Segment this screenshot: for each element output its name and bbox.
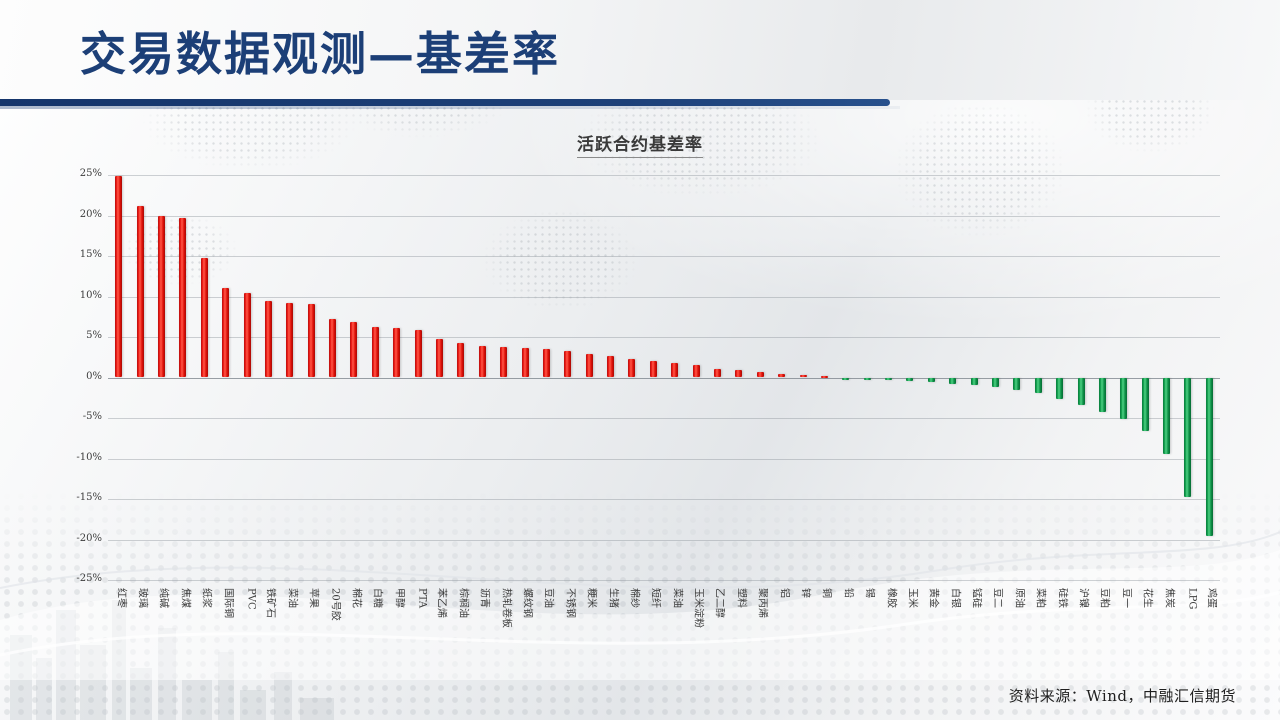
chart-bar	[586, 354, 593, 377]
chart-bar	[329, 319, 336, 377]
x-axis-tick-label: 锰硅	[971, 588, 986, 608]
chart-bar	[885, 378, 892, 381]
x-axis-tick-label: 豆油	[543, 588, 558, 608]
chart-bar	[693, 365, 700, 377]
y-axis-tick-label: -10%	[42, 452, 102, 463]
header-accent-rule	[0, 99, 890, 106]
x-axis-tick-label: 沪镍	[1078, 588, 1093, 608]
x-axis-tick-label: 玉米	[906, 588, 921, 608]
chart-bar	[543, 349, 550, 377]
chart-bar	[1163, 378, 1170, 454]
x-axis-tick-label: 短纤	[650, 588, 665, 608]
x-axis-tick-label: 硅铁	[1056, 588, 1071, 608]
chart-bar	[1013, 378, 1020, 390]
x-axis-tick-label: 豆二	[992, 588, 1007, 608]
x-axis-tick-label: 豆粕	[1099, 588, 1114, 608]
x-axis-tick-label: 黄金	[928, 588, 943, 608]
x-axis-tick-label: 锌	[800, 588, 815, 598]
x-axis-tick-label: 焦炭	[1163, 588, 1178, 608]
chart-bar	[1120, 378, 1127, 419]
chart-bar	[308, 304, 315, 378]
chart-bar	[222, 288, 229, 378]
chart-bar	[137, 206, 144, 378]
chart-bar	[1056, 378, 1063, 399]
source-note: 资料来源：Wind，中融汇信期货	[1009, 685, 1236, 706]
chart-bar	[864, 378, 871, 380]
x-axis-tick-label: 花生	[1142, 588, 1157, 608]
x-axis-tick-label: 菜粕	[1035, 588, 1050, 608]
gridline	[108, 580, 1220, 581]
x-axis-tick-label: 玉米淀粉	[693, 588, 708, 628]
x-axis-tick-label: 白糖	[372, 588, 387, 608]
x-axis-tick-label: 橡胶	[885, 588, 900, 608]
x-axis-tick-label: 螺纹钢	[522, 588, 537, 618]
x-axis-tick-label: 纯碱	[158, 588, 173, 608]
x-axis-tick-label: 沥青	[479, 588, 494, 608]
x-axis-tick-label: 白银	[949, 588, 964, 608]
x-axis-tick-label: 鸡蛋	[1206, 588, 1221, 608]
y-axis-tick-label: -25%	[42, 573, 102, 584]
x-axis-tick-label: PTA	[417, 588, 428, 608]
chart-bar	[842, 378, 849, 380]
y-axis-tick-label: 0%	[42, 371, 102, 382]
chart-bars	[108, 175, 1220, 580]
x-axis-tick-label: 红枣	[115, 588, 130, 608]
chart-bar	[992, 378, 999, 388]
x-axis-tick-label: 玻璃	[137, 588, 152, 608]
chart-bar	[179, 218, 186, 378]
chart-bar	[628, 359, 635, 378]
slide-header: 交易数据观测—基差率	[0, 0, 1280, 100]
y-axis-tick-label: -5%	[42, 411, 102, 422]
chart-bar	[1099, 378, 1106, 412]
chart-bar	[671, 363, 678, 378]
x-axis-tick-label: 苹果	[308, 588, 323, 608]
page-title: 交易数据观测—基差率	[80, 26, 560, 82]
chart-bar	[949, 378, 956, 384]
x-axis-tick-label: 铝	[778, 588, 793, 598]
x-axis-tick-label: 纸浆	[201, 588, 216, 608]
x-axis-tick-label: 铁矿石	[265, 588, 280, 618]
chart-container: 活跃合约基差率 25%20%15%10%5%0%-5%-10%-15%-20%-…	[0, 120, 1280, 680]
y-axis-tick-label: 10%	[42, 290, 102, 301]
y-axis-tick-label: 25%	[42, 168, 102, 179]
chart-bar	[393, 328, 400, 377]
chart-bar	[457, 343, 464, 377]
slide-canvas: 交易数据观测—基差率 活跃合约基差率 25%20%15%10%5%0%-5%-1…	[0, 0, 1280, 720]
chart-bar	[800, 375, 807, 377]
x-axis-tick-label: 粳米	[586, 588, 601, 608]
chart-title: 活跃合约基差率	[0, 130, 1280, 155]
chart-bar	[522, 348, 529, 377]
chart-bar	[714, 369, 721, 378]
chart-bar	[1206, 378, 1213, 537]
chart-bar	[1078, 378, 1085, 406]
chart-bar	[1142, 378, 1149, 431]
x-axis-tick-label: 国际铜	[222, 588, 237, 618]
chart-bar	[607, 356, 614, 377]
x-axis-tick-label: 菜油	[286, 588, 301, 608]
x-axis-tick-label: 生猪	[607, 588, 622, 608]
y-axis-tick-label: -20%	[42, 533, 102, 544]
x-axis-tick-label: LPG	[1186, 588, 1197, 609]
x-axis-tick-label: 棉纱	[628, 588, 643, 608]
x-axis-tick-label: PVC	[246, 588, 257, 610]
chart-bar	[906, 378, 913, 382]
chart-bar	[244, 293, 251, 377]
chart-title-text: 活跃合约基差率	[577, 135, 703, 158]
y-axis-tick-label: 15%	[42, 249, 102, 260]
x-axis-tick-label: 铜	[821, 588, 836, 598]
x-axis-tick-label: 豆一	[1120, 588, 1135, 608]
chart-plot-area: 25%20%15%10%5%0%-5%-10%-15%-20%-25% 红枣玻璃…	[108, 175, 1220, 580]
chart-bar	[265, 301, 272, 377]
x-axis-tick-label: 20号胶	[329, 588, 344, 621]
x-axis-tick-label: 聚丙烯	[757, 588, 772, 618]
x-axis-tick-label: 乙二醇	[714, 588, 729, 618]
x-axis-tick-label: 塑料	[735, 588, 750, 608]
chart-bar	[500, 347, 507, 378]
x-axis-tick-label: 菜油	[671, 588, 686, 608]
y-axis-tick-label: -15%	[42, 492, 102, 503]
chart-bar	[650, 361, 657, 377]
chart-bar	[1035, 378, 1042, 393]
x-axis-tick-label: 棉花	[350, 588, 365, 608]
x-axis-tick-label: 原油	[1013, 588, 1028, 608]
chart-bar	[928, 378, 935, 383]
chart-bar	[735, 370, 742, 377]
chart-bar	[372, 327, 379, 377]
y-axis-tick-label: 5%	[42, 330, 102, 341]
x-axis-tick-label: 锡	[864, 588, 879, 598]
chart-bar	[350, 322, 357, 378]
chart-bar	[479, 346, 486, 378]
chart-bar	[757, 372, 764, 378]
y-axis-tick-label: 20%	[42, 209, 102, 220]
x-axis-tick-label: 甲醇	[393, 588, 408, 608]
x-axis-tick-label: 棕榈油	[457, 588, 472, 618]
chart-bar	[436, 339, 443, 377]
x-axis-tick-label: 焦煤	[179, 588, 194, 608]
x-axis-tick-label: 铅	[842, 588, 857, 598]
chart-bar	[115, 176, 122, 378]
chart-bar	[415, 330, 422, 378]
chart-bar	[778, 374, 785, 378]
x-axis-tick-label: 不锈钢	[564, 588, 579, 618]
chart-bar	[158, 216, 165, 377]
header-accent-rule-secondary	[0, 106, 900, 109]
x-axis-tick-label: 苯乙烯	[436, 588, 451, 618]
chart-bar	[201, 258, 208, 377]
chart-bar	[971, 378, 978, 385]
chart-bar	[286, 303, 293, 378]
chart-bar	[821, 376, 828, 378]
x-axis-tick-label: 热轧卷板	[500, 588, 515, 628]
chart-bar	[1184, 378, 1191, 497]
chart-bar	[564, 351, 571, 378]
